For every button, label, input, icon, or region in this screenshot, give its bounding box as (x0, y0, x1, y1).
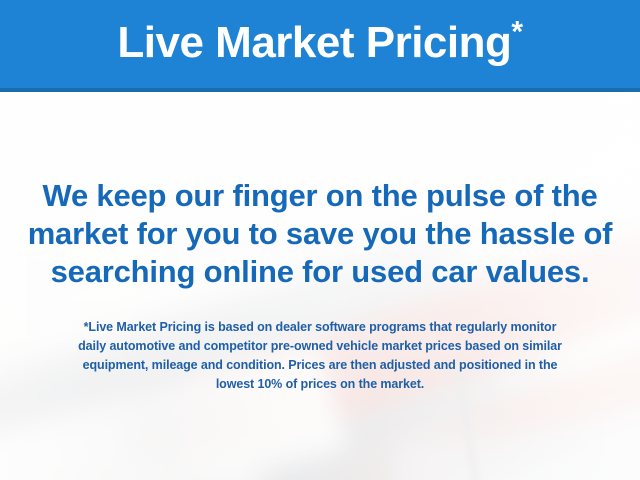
header-banner: Live Market Pricing* (0, 0, 640, 88)
live-market-pricing-promo: Live Market Pricing* We keep our finger … (0, 0, 640, 480)
disclaimer-line: *Live Market Pricing is based on dealer … (20, 318, 620, 337)
disclaimer-line: daily automotive and competitor pre-owne… (20, 337, 620, 356)
headline-line: searching online for used car values. (20, 253, 620, 291)
headline-line: market for you to save you the hassle of (20, 215, 620, 253)
banner-underline-divider (0, 88, 640, 92)
disclaimer-line: lowest 10% of prices on the market. (20, 375, 620, 394)
disclaimer-text: *Live Market Pricing is based on dealer … (20, 318, 620, 394)
banner-title: Live Market Pricing* (117, 21, 522, 67)
disclaimer-line: equipment, mileage and condition. Prices… (20, 356, 620, 375)
headline-text: We keep our finger on the pulse of the m… (20, 177, 620, 291)
banner-title-text: Live Market Pricing (117, 18, 511, 67)
content-area: We keep our finger on the pulse of the m… (0, 92, 640, 480)
banner-title-asterisk: * (511, 15, 522, 48)
headline-line: We keep our finger on the pulse of the (20, 177, 620, 215)
